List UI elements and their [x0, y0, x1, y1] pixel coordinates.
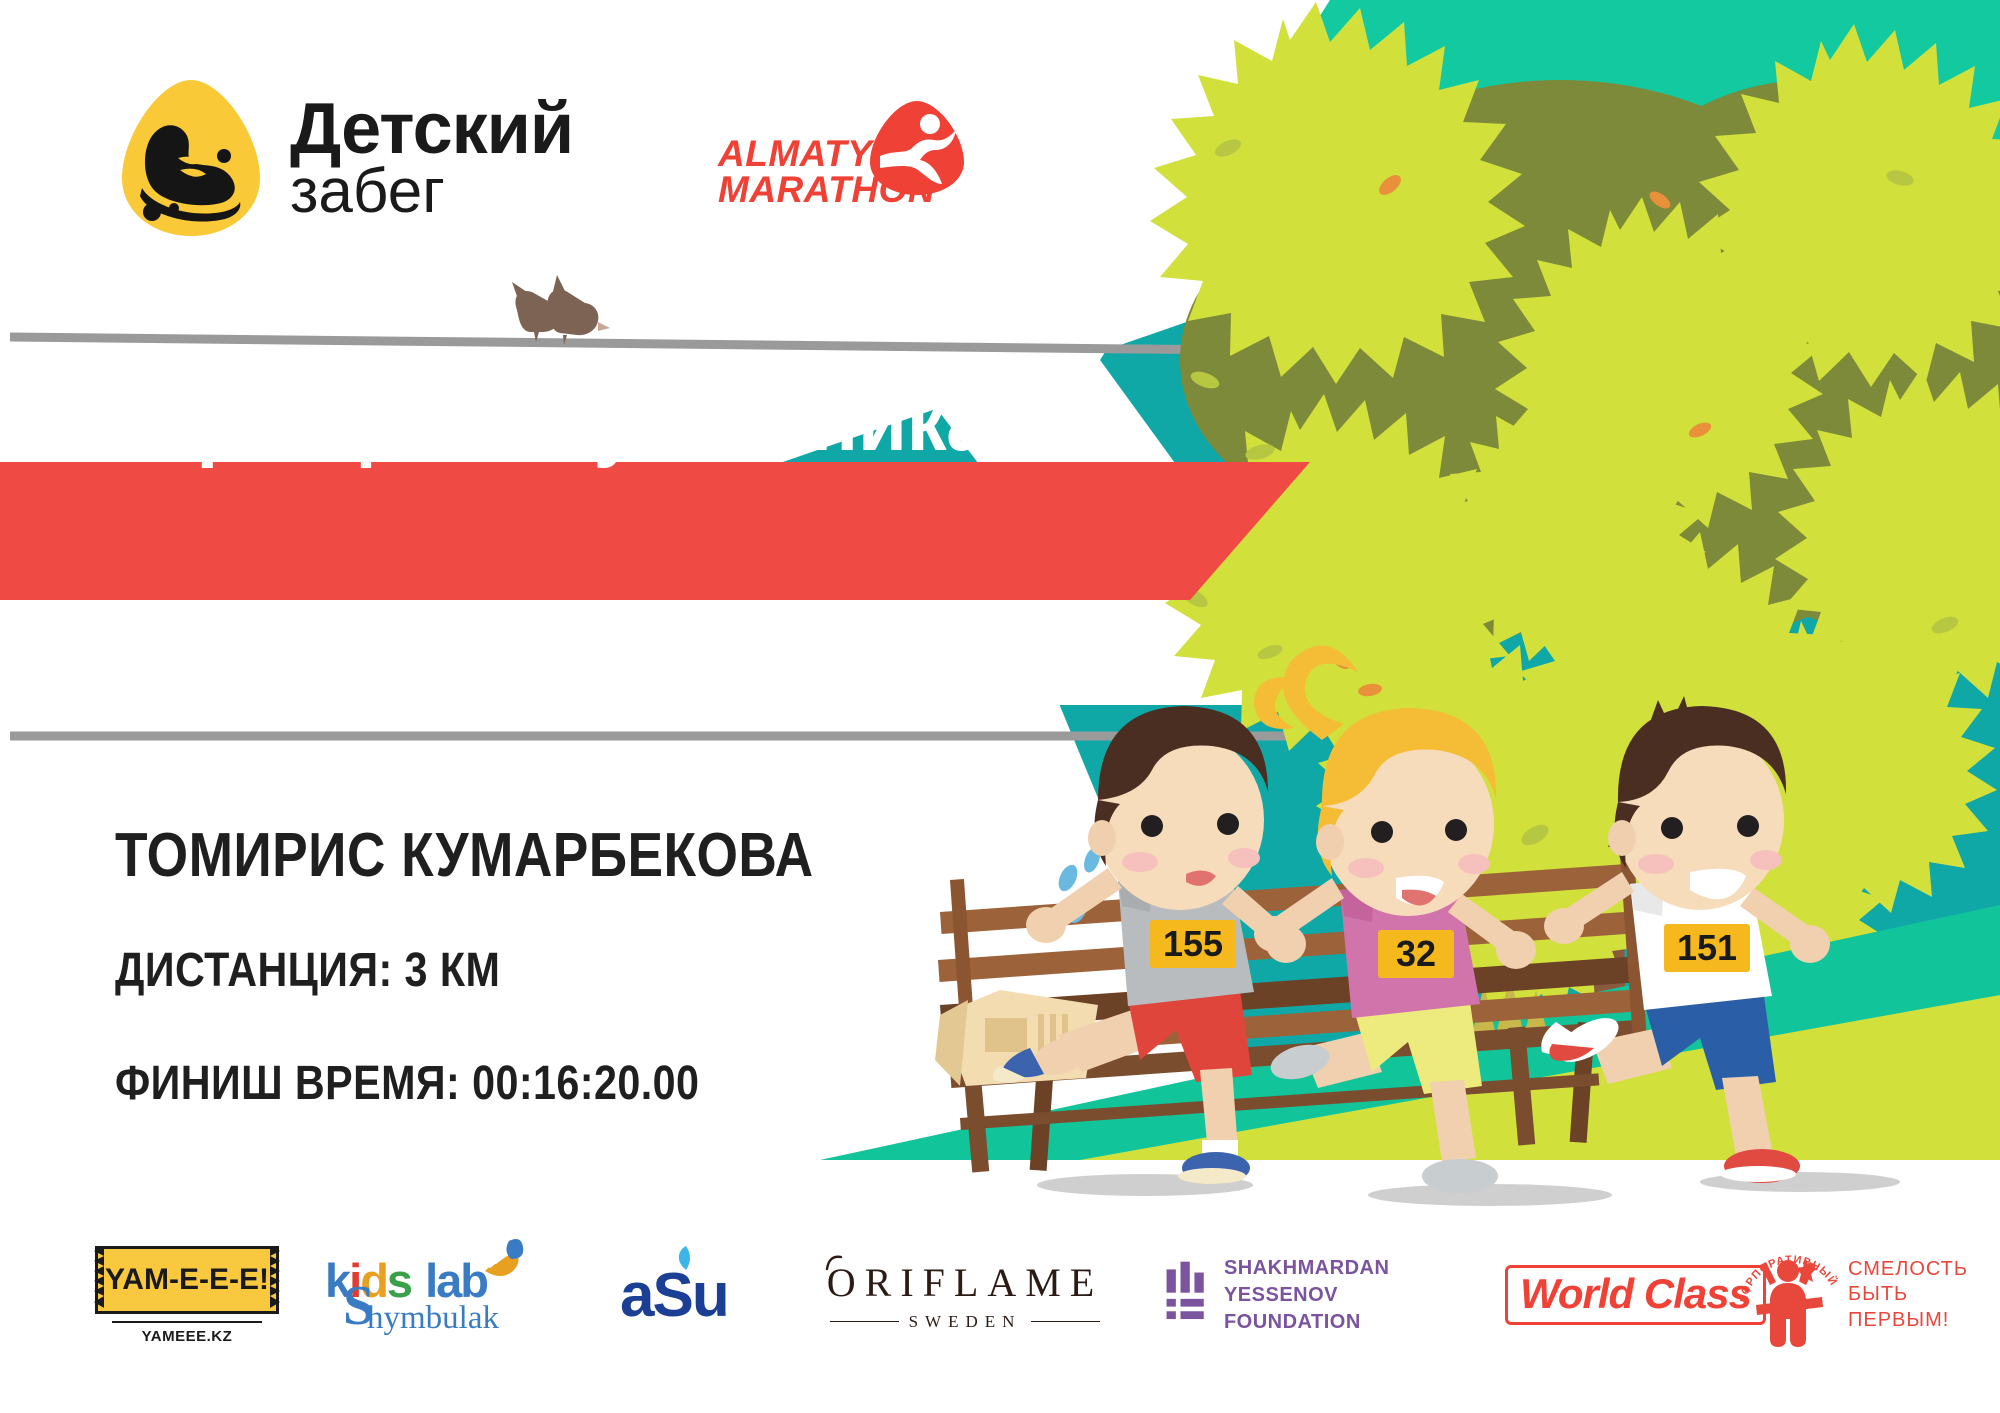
kidslab-shymbulak: Shymbulak — [367, 1300, 499, 1337]
running-figure-icon — [868, 100, 966, 196]
brand-line-1: Детский — [290, 96, 573, 162]
sponsor-kidslab[interactable]: kidslab Shymbulak — [325, 1230, 555, 1360]
yessenov-line-2: FOUNDATION — [1224, 1309, 1445, 1336]
brand-line-2: забег — [290, 163, 573, 220]
kidslab-shymbulak-rest: hymbulak — [367, 1300, 499, 1336]
brand-logo: Детский забег — [118, 78, 573, 238]
svg-text:32: 32 — [1396, 933, 1436, 974]
participant-finish-time: ФИНИШ ВРЕМЯ: 00:16:20.00 — [115, 1056, 814, 1111]
sneaker-icon — [118, 78, 264, 238]
smelost-figure-icon: КОРПОРАТИВНЫЙ ФОНД — [1740, 1237, 1838, 1347]
oriflame-swoosh-icon — [825, 1255, 843, 1273]
kidslab-S: S — [343, 1274, 374, 1338]
smelost-wordmark: СМЕЛОСТЬ БЫТЬ ПЕРВЫМ! — [1848, 1257, 1968, 1333]
oriflame-label: ORIFLAME — [827, 1260, 1103, 1305]
almaty-marathon-logo: ALMATY MARATHON — [718, 108, 938, 218]
oriflame-sweden: SWEDEN — [909, 1312, 1022, 1332]
participant-distance: ДИСТАНЦИЯ: 3 КМ — [115, 943, 814, 998]
smelost-line-2: БЫТЬ — [1848, 1282, 1968, 1307]
smelost-line-3: ПЕРВЫМ! — [1848, 1308, 1968, 1333]
yameee-badge: YAM-E-E-E! — [95, 1246, 279, 1314]
oriflame-rule-left — [830, 1321, 899, 1322]
sponsor-yameee[interactable]: YAM-E-E-E! YAMEEE.KZ — [92, 1230, 282, 1360]
svg-text:155: 155 — [1163, 923, 1223, 964]
asu-wordmark: aSu — [620, 1260, 728, 1331]
oriflame-wordmark: ORIFLAME — [827, 1259, 1103, 1306]
bee-icon — [479, 1237, 525, 1281]
sponsor-worldclass[interactable]: World Class — [1505, 1230, 1725, 1360]
smelost-line-1: СМЕЛОСТЬ — [1848, 1257, 1968, 1282]
participant-name: ТОМИРИС КУМАРБЕКОВА — [115, 820, 814, 891]
yameee-domain: YAMEEE.KZ — [112, 1321, 262, 1345]
asu-leaf-icon — [670, 1244, 692, 1274]
sponsor-asu[interactable]: aSu — [620, 1230, 770, 1360]
sponsor-yessenov[interactable]: SHAKHMARDAN YESSENOV FOUNDATION — [1165, 1230, 1445, 1360]
sponsor-oriflame[interactable]: ORIFLAME SWEDEN — [830, 1230, 1100, 1360]
participant-info: ТОМИРИС КУМАРБЕКОВА ДИСТАНЦИЯ: 3 КМ ФИНИ… — [115, 820, 927, 1111]
sponsor-smelost[interactable]: КОРПОРАТИВНЫЙ ФОНД СМЕЛОСТЬ БЫТЬ ПЕРВЫМ! — [1740, 1230, 1980, 1360]
yessenov-line-1: SHAKHMARDAN YESSENOV — [1224, 1255, 1445, 1309]
certificate-canvas: 155 — [0, 0, 2000, 1413]
yessenov-wordmark: SHAKHMARDAN YESSENOV FOUNDATION — [1224, 1255, 1445, 1336]
brand-wordmark: Детский забег — [290, 96, 573, 219]
certificate-title: Сертификат участника — [95, 372, 990, 471]
yameee-label: YAM-E-E-E! — [105, 1263, 269, 1297]
svg-text:151: 151 — [1677, 927, 1737, 968]
yessenov-bars-icon — [1165, 1252, 1210, 1338]
worldclass-wordmark: World Class — [1505, 1265, 1766, 1325]
sponsor-strip: YAM-E-E-E! YAMEEE.KZ kidslab Shymbulak a… — [0, 1230, 2000, 1370]
oriflame-rule-right — [1031, 1321, 1100, 1322]
